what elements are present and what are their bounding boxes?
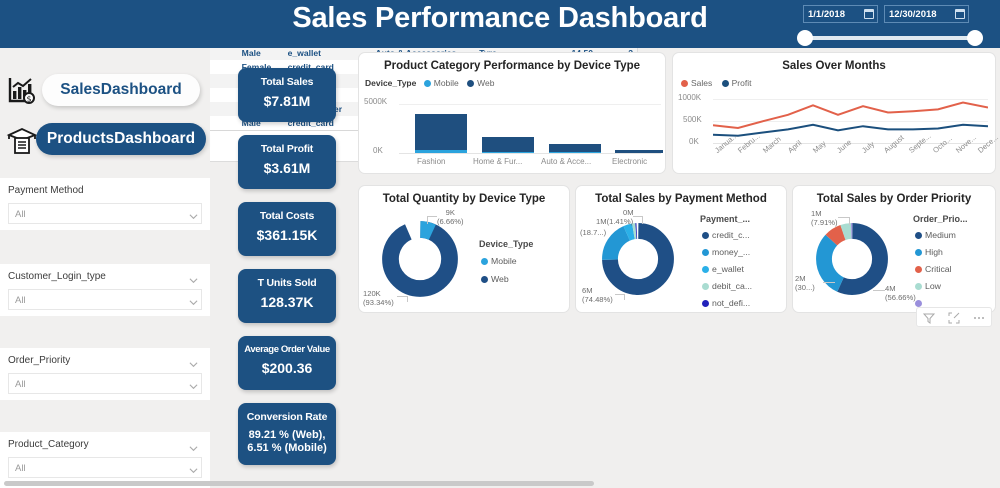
legend-title: Device_Type (365, 78, 416, 88)
chevron-down-icon[interactable] (189, 356, 198, 365)
legend-label: High (925, 247, 943, 257)
y-axis-tick-max: 5000K (364, 97, 387, 106)
legend-swatch (702, 249, 709, 256)
chart-title: Total Sales by Payment Method (576, 193, 786, 205)
leader-line (838, 217, 850, 218)
donut-percent: (74.48%) (582, 295, 613, 304)
legend-label: e_wallet (712, 264, 744, 274)
bar-segment-mobile (415, 150, 467, 153)
donut-value: 1M (811, 209, 822, 218)
legend-swatch (915, 249, 922, 256)
legend-swatch (702, 300, 709, 307)
x-axis-tick: Fashion (417, 157, 445, 166)
donut-plot[interactable] (601, 222, 675, 296)
calendar-icon (955, 9, 965, 19)
legend-swatch (681, 80, 688, 87)
kpi-label: Total Profit (238, 143, 336, 155)
filter-icon[interactable] (923, 311, 935, 323)
chart-title: Total Sales by Order Priority (793, 193, 995, 205)
legend-item-profit[interactable]: Profit (722, 78, 752, 88)
date-slider-track[interactable] (805, 36, 977, 40)
legend-swatch (915, 232, 922, 239)
legend-label: credit_c... (712, 230, 750, 240)
kpi-card-total-profit[interactable]: Total Profit $3.61M (238, 135, 336, 189)
donut-value: 9K (446, 208, 455, 217)
legend-label: Web (477, 78, 494, 88)
chevron-down-icon[interactable] (189, 272, 198, 281)
leader-line (849, 217, 850, 225)
date-from-value: 1/1/2018 (808, 9, 845, 20)
legend-item-debit-card[interactable]: debit_ca... (702, 281, 752, 291)
x-axis-tick: Auto & Acce... (541, 157, 591, 166)
legend-swatch (467, 80, 474, 87)
legend-swatch (702, 283, 709, 290)
conversion-web: 89.21 % (Web), (249, 429, 326, 441)
kpi-card-units-sold[interactable]: T Units Sold 128.37K (238, 269, 336, 323)
bar-segment-mobile (549, 152, 601, 153)
donut-value: 120K (363, 289, 381, 298)
donut-value: 0M (623, 208, 634, 217)
slicer-product-category[interactable]: Product_Category All (0, 432, 210, 488)
kpi-value: $3.61M (238, 160, 336, 176)
sidebar-item-label: ProductsDashboard (47, 130, 195, 148)
x-axis-tick: Home & Fur... (473, 157, 522, 166)
kpi-value: $361.15K (238, 227, 336, 243)
kpi-label: Average Order Value (238, 344, 336, 355)
date-to-value: 12/30/2018 (889, 9, 937, 20)
slicer-customer-login-type[interactable]: Customer_Login_type All (0, 264, 210, 316)
bar-group-electronic[interactable] (615, 102, 663, 153)
bar-group-auto-accessories[interactable] (549, 102, 601, 153)
donut-slice-not-defined[interactable] (610, 231, 666, 287)
cell-gender: Male (238, 46, 284, 60)
sidebar-item-label: SalesDashboard (60, 81, 181, 99)
donut-percent: (1.41%) (607, 217, 634, 226)
bar-group-home-furniture[interactable] (482, 102, 534, 153)
chart-total-sales-by-order-priority[interactable]: Total Sales by Order Priority 1M (7.91%)… (792, 185, 996, 313)
legend-swatch (481, 276, 488, 283)
y-axis-tick-min: 0K (373, 146, 383, 155)
chevron-down-icon[interactable] (189, 462, 198, 471)
bar-segment-web (549, 144, 601, 152)
leader-line (873, 290, 885, 291)
legend-label: Profit (732, 78, 752, 88)
legend-label: Mobile (491, 256, 517, 266)
slicer-label: Payment Method (8, 185, 84, 196)
kpi-value: $7.81M (238, 93, 336, 109)
donut-label-medium: 4M (56.66%) (885, 284, 916, 302)
legend-item-web[interactable]: Web (467, 78, 494, 88)
legend-item-mobile[interactable]: Mobile (481, 256, 517, 266)
legend-title: Device_Type (479, 239, 533, 249)
donut-value: 4M (885, 284, 896, 293)
donut-percent: (7.91%) (811, 218, 838, 227)
donut-value: 2M (795, 274, 806, 283)
conversion-mobile: 6.51 % (Mobile) (247, 442, 326, 454)
leader-line (823, 282, 835, 283)
kpi-card-total-costs[interactable]: Total Costs $361.15K (238, 202, 336, 256)
leader-line (642, 216, 643, 224)
chevron-down-icon[interactable] (189, 208, 198, 217)
slicer-value[interactable]: All (8, 289, 202, 310)
date-slider-handle-right[interactable] (967, 30, 983, 46)
donut-value: 6M (582, 286, 593, 295)
legend-swatch (702, 232, 709, 239)
svg-text:$: $ (26, 95, 31, 104)
legend-swatch (915, 266, 922, 273)
bar-segment-web (482, 137, 534, 152)
donut-slice-other[interactable] (824, 231, 880, 287)
legend-item-medium[interactable]: Medium (915, 230, 956, 240)
x-axis-tick: Electronic (612, 157, 647, 166)
donut-plot[interactable] (381, 220, 459, 298)
legend-swatch (722, 80, 729, 87)
slicer-label: Customer_Login_type (8, 271, 106, 282)
chart-title: Sales Over Months (673, 60, 995, 72)
legend-label: Mobile (434, 78, 459, 88)
visual-toolbar[interactable] (916, 307, 992, 327)
donut-percent: (93.34%) (363, 298, 394, 307)
chevron-down-icon[interactable] (189, 378, 198, 387)
legend-label: Low (925, 281, 941, 291)
donut-label-e-wallet: 1M(1.41%) (596, 217, 633, 226)
legend-label: Sales (691, 78, 712, 88)
y-axis-tick-500k: 500K (683, 115, 702, 124)
kpi-card-total-sales[interactable]: Total Sales $7.81M (238, 68, 336, 122)
app-header: Sales Performance Dashboard 1/1/2018 12/… (0, 0, 1000, 48)
chart-total-sales-by-payment-method[interactable]: Total Sales by Payment Method 0M 1M(1.41… (575, 185, 787, 313)
leader-line (427, 216, 437, 217)
legend-label: debit_ca... (712, 281, 752, 291)
axis-baseline (399, 153, 661, 154)
chart-sales-over-months[interactable]: Sales Over Months Sales Profit 1000K 500… (672, 52, 996, 174)
donut-label-credit-card: 6M (74.48%) (582, 286, 613, 304)
legend-item-low[interactable]: Low (915, 281, 941, 291)
sidebar: $ SalesDashboard ProductsDashboard Payme… (0, 48, 210, 488)
legend-item-money-order[interactable]: money_... (702, 247, 750, 257)
chart-title: Total Quantity by Device Type (359, 193, 569, 205)
bar-segment-web (415, 114, 467, 150)
bar-chart-dollar-icon: $ (6, 74, 38, 106)
donut-percent: (6.66%) (437, 217, 464, 226)
donut-percent: (30...) (795, 283, 815, 292)
legend-title: Payment_... (700, 214, 750, 224)
slicer-label: Order_Priority (8, 355, 70, 366)
slicer-value[interactable]: All (8, 457, 202, 478)
date-range-slicer[interactable]: 1/1/2018 12/30/2018 (795, 0, 1000, 48)
product-box-icon (6, 124, 38, 156)
legend-title: Order_Prio... (913, 214, 968, 224)
leader-line (427, 216, 428, 224)
slicer-payment-method[interactable]: Payment Method All (0, 178, 210, 230)
donut-label-web: 120K (93.34%) (363, 289, 394, 307)
focus-mode-icon[interactable] (948, 311, 960, 323)
legend-item-mobile[interactable]: Mobile (424, 78, 461, 88)
legend-swatch (702, 266, 709, 273)
slicer-value[interactable]: All (8, 373, 202, 394)
legend-item-credit-card[interactable]: credit_c... (702, 230, 750, 240)
more-options-icon[interactable] (973, 311, 985, 323)
chart-title: Product Category Performance by Device T… (359, 60, 665, 72)
donut-label-debit: 0M (623, 208, 634, 217)
donut-label-mobile: 9K (6.66%) (437, 208, 464, 226)
slicer-value[interactable]: All (8, 203, 202, 224)
chart-product-category-performance[interactable]: Product Category Performance by Device T… (358, 52, 666, 174)
donut-value: 1M (596, 217, 607, 226)
legend-swatch (915, 300, 922, 307)
date-to-input[interactable]: 12/30/2018 (884, 5, 969, 23)
donut-percent: (18.7...) (580, 228, 606, 237)
date-from-input[interactable]: 1/1/2018 (803, 5, 878, 23)
bar-group-fashion[interactable] (415, 102, 467, 153)
kpi-card-average-order-value[interactable]: Average Order Value $200.36 (238, 336, 336, 390)
chevron-down-icon[interactable] (189, 294, 198, 303)
legend-swatch (915, 283, 922, 290)
legend-item-e-wallet[interactable]: e_wallet (702, 264, 744, 274)
donut-label-money-order: (18.7...) (580, 228, 606, 237)
chevron-down-icon[interactable] (189, 440, 198, 449)
chart-legend: Sales Profit (681, 78, 751, 88)
donut-plot[interactable] (815, 222, 889, 296)
kpi-value: $200.36 (238, 360, 336, 376)
legend-item-critical[interactable]: Critical (915, 264, 952, 274)
legend-item-sales[interactable]: Sales (681, 78, 715, 88)
slicer-label: Product_Category (8, 439, 89, 450)
legend-label: money_... (712, 247, 750, 257)
y-axis-tick-1000k: 1000K (678, 93, 701, 102)
kpi-value: 89.21 % (Web), 6.51 % (Mobile) (238, 429, 336, 455)
kpi-label: Total Costs (238, 210, 336, 222)
sidebar-item-products-dashboard[interactable]: ProductsDashboard (36, 123, 206, 155)
chart-total-quantity-by-device-type[interactable]: Total Quantity by Device Type 9K (6.66%)… (358, 185, 570, 313)
kpi-label: Conversion Rate (238, 411, 336, 423)
kpi-card-conversion-rate[interactable]: Conversion Rate 89.21 % (Web), 6.51 % (M… (238, 403, 336, 465)
calendar-icon (864, 9, 874, 19)
chart-legend: Device_Type Mobile Web (365, 78, 494, 88)
kpi-label: T Units Sold (238, 277, 336, 289)
bar-segment-web (615, 150, 663, 153)
bar-segment-mobile (482, 152, 534, 154)
leader-line (397, 296, 408, 297)
sidebar-item-sales-dashboard[interactable]: SalesDashboard (42, 74, 200, 106)
kpi-label: Total Sales (238, 76, 336, 88)
date-slider-handle-left[interactable] (797, 30, 813, 46)
y-axis-tick-0k: 0K (689, 137, 699, 146)
legend-label: Web (491, 274, 509, 284)
legend-item-web[interactable]: Web (481, 274, 509, 284)
legend-item-high[interactable]: High (915, 247, 943, 257)
leader-line (633, 216, 643, 217)
legend-label: not_defi... (712, 298, 750, 308)
line-series-sales (713, 103, 988, 129)
legend-swatch (424, 80, 431, 87)
legend-label: Medium (925, 230, 956, 240)
legend-swatch (481, 258, 488, 265)
slicer-order-priority[interactable]: Order_Priority All (0, 348, 210, 400)
donut-label-critical: 1M (7.91%) (811, 209, 838, 227)
kpi-value: 128.37K (238, 294, 336, 310)
legend-item-not-defined[interactable]: not_defi... (702, 298, 750, 308)
donut-label-high: 2M (30...) (795, 274, 815, 292)
donut-percent: (56.66%) (885, 293, 916, 302)
donut-slice-mobile[interactable] (390, 229, 449, 288)
legend-label: Critical (925, 264, 952, 274)
leader-line (615, 294, 625, 295)
